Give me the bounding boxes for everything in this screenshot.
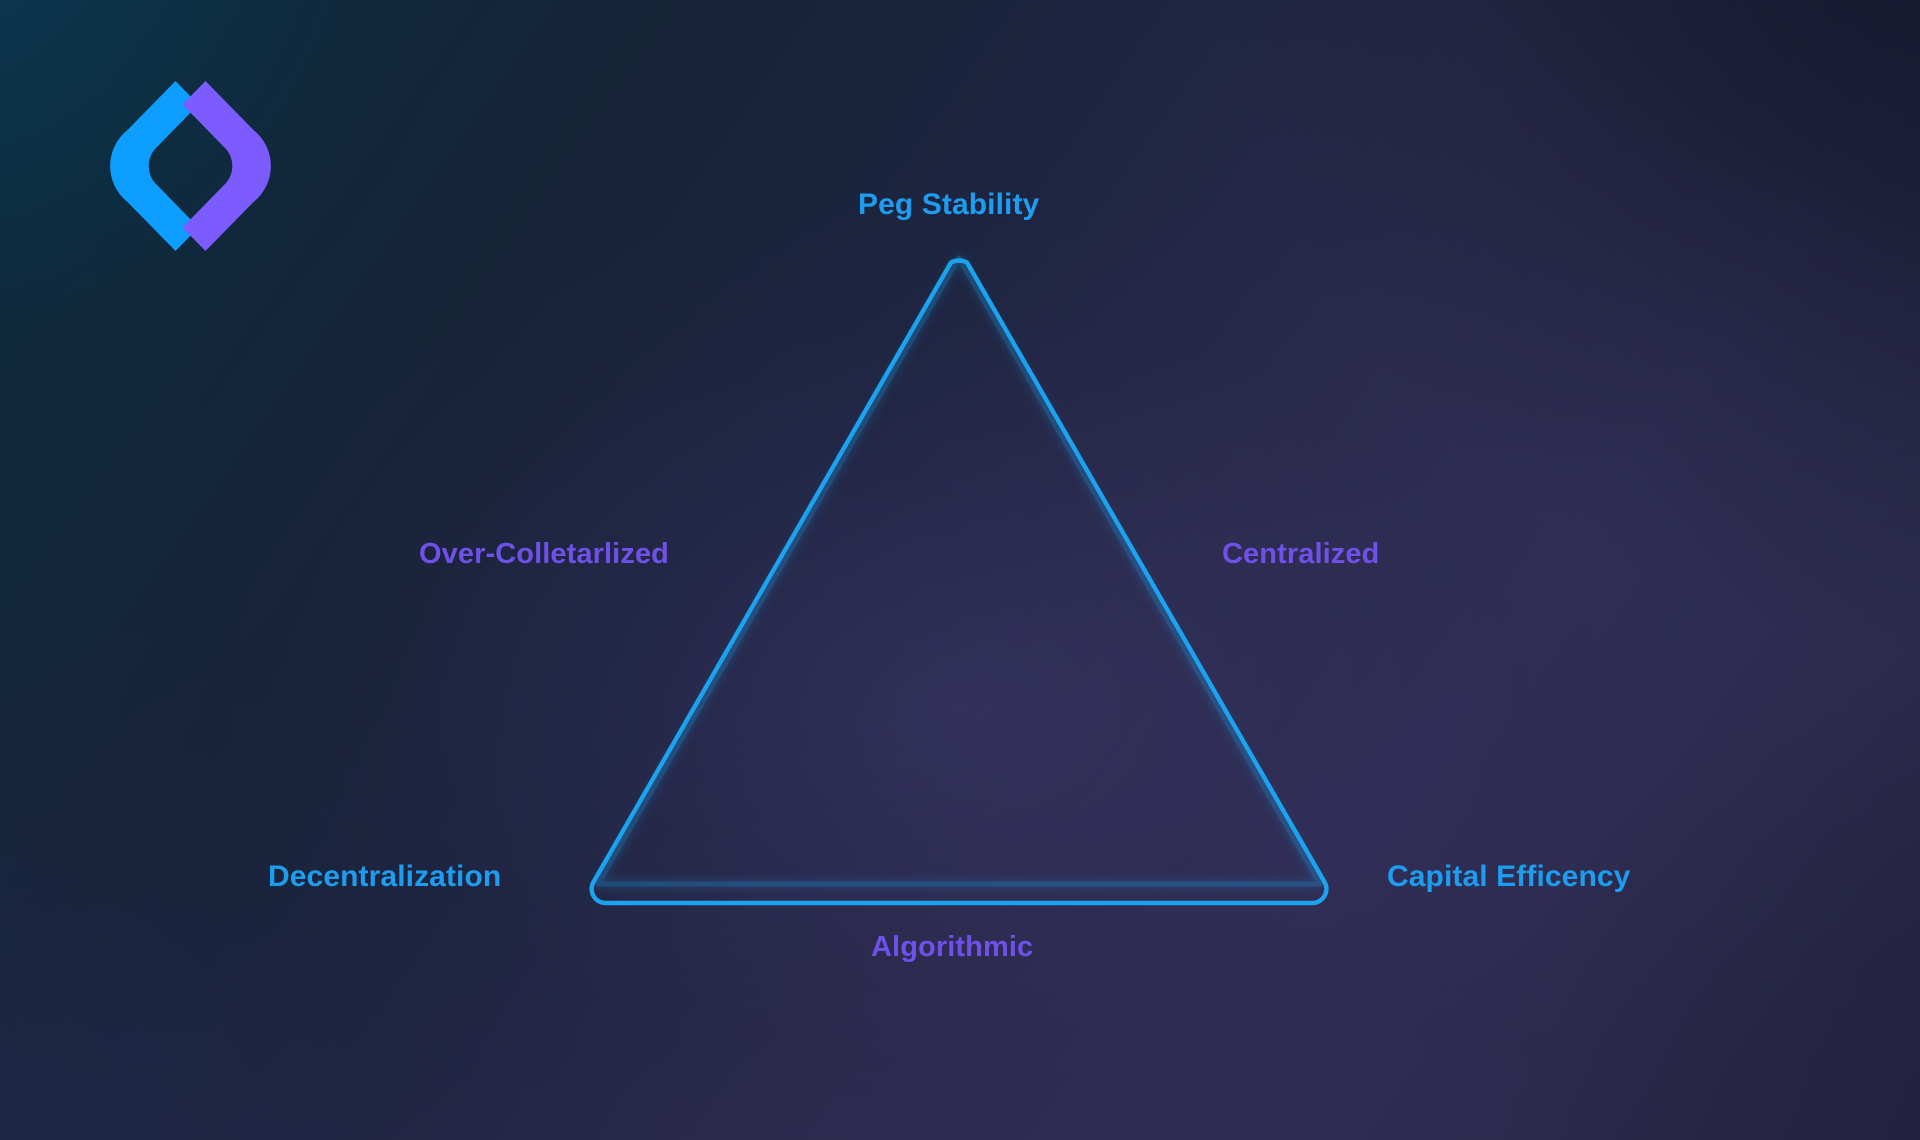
edge-label-centralized: Centralized bbox=[1222, 540, 1379, 569]
triangle-glow bbox=[598, 258, 1320, 884]
triangle-outline bbox=[592, 261, 1327, 903]
canvas: Peg Stability Over-Colletarlized Central… bbox=[0, 0, 1920, 1140]
vertex-label-capital-efficency: Capital Efficency bbox=[1387, 862, 1630, 892]
edge-label-over-colletarlized: Over-Colletarlized bbox=[419, 540, 669, 569]
trilemma-triangle-diagram bbox=[0, 0, 1920, 1140]
vertex-label-decentralization: Decentralization bbox=[268, 862, 501, 892]
edge-label-algorithmic: Algorithmic bbox=[871, 933, 1033, 962]
vertex-label-peg-stability: Peg Stability bbox=[858, 190, 1039, 220]
